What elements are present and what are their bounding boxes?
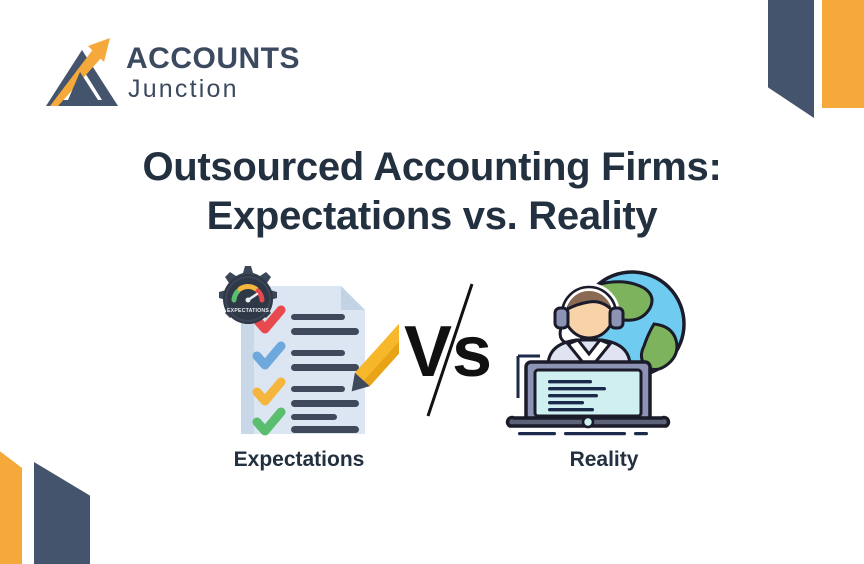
page-title-line-1: Outsourced Accounting Firms:: [0, 143, 864, 192]
checklist-document-pencil-icon: EXPECTATIONS: [190, 262, 408, 444]
brand-name-bottom: Junction: [128, 77, 300, 102]
brand-logo[interactable]: ACCOUNTS Junction: [44, 34, 300, 112]
brand-wordmark: ACCOUNTS Junction: [126, 44, 300, 102]
versus-label: Vs: [404, 312, 492, 392]
support-agent-laptop-globe-icon: [500, 262, 708, 444]
brand-name-top: ACCOUNTS: [126, 44, 300, 74]
page-title-line-2: Expectations vs. Reality: [0, 192, 864, 241]
comparison-left-caption: Expectations: [190, 448, 408, 472]
gauge-badge-label: EXPECTATIONS: [227, 308, 269, 314]
comparison-left: EXPECTATIONS Expectations: [190, 262, 408, 472]
comparison-section: EXPECTATIONS Expectations Vs: [0, 262, 864, 502]
comparison-right: Reality: [500, 262, 708, 472]
versus-divider: Vs: [404, 280, 500, 420]
page-title: Outsourced Accounting Firms: Expectation…: [0, 143, 864, 241]
triangle-arrow-logo-icon: [44, 34, 120, 112]
poster-canvas: ACCOUNTS Junction Outsourced Accounting …: [0, 0, 864, 564]
decoration-top-right-navy-band: [768, 0, 814, 118]
decoration-top-right-orange-band: [822, 0, 864, 108]
comparison-right-caption: Reality: [500, 448, 708, 472]
